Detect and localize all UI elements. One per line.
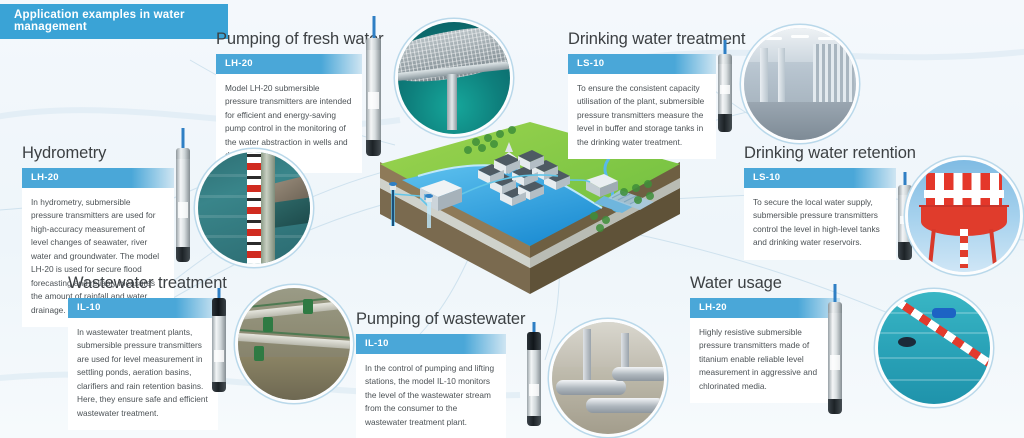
treatment-plant-interior-photo	[744, 28, 856, 140]
card-title: Drinking water treatment	[568, 30, 716, 49]
infographic-canvas: Application examples in water management	[0, 0, 1024, 438]
model-badge: LH-20	[690, 298, 840, 318]
card-body: In the control of pumping and lifting st…	[356, 354, 506, 438]
probe-ls-10-treatment	[718, 40, 732, 132]
model-badge: LH-20	[22, 168, 174, 188]
card-title: Pumping of wastewater	[356, 310, 506, 329]
card-pumping-wastewater: Pumping of wastewater IL-10 In the contr…	[356, 310, 506, 438]
card-drinking-water-retention: Drinking water retention LS-10 To secure…	[744, 144, 896, 260]
probe-lh-20-fresh-water	[366, 16, 381, 156]
card-wastewater-treatment: Wastewater treatment IL-10 In wastewater…	[68, 274, 218, 430]
page-title-banner: Application examples in water management	[0, 4, 228, 39]
card-title: Wastewater treatment	[68, 274, 218, 293]
card-title: Water usage	[690, 274, 840, 293]
card-title: Drinking water retention	[744, 144, 896, 163]
river-level-gauge-photo	[198, 152, 310, 264]
model-badge: IL-10	[356, 334, 506, 354]
model-badge: LS-10	[744, 168, 896, 188]
swimming-pool-photo	[878, 292, 990, 404]
card-water-usage: Water usage LH-20 Highly resistive subme…	[690, 274, 840, 403]
card-title: Hydrometry	[22, 144, 174, 163]
pumping-station-photo	[552, 322, 664, 434]
pump-impeller-photo	[398, 22, 510, 134]
model-badge: LS-10	[568, 54, 716, 74]
card-body: Highly resistive submersible pressure tr…	[690, 318, 840, 403]
card-title: Pumping of fresh water	[216, 30, 362, 49]
probe-il-10-pumping-wastewater	[527, 322, 541, 426]
aeration-basin-photo	[238, 288, 350, 400]
model-badge: IL-10	[68, 298, 218, 318]
probe-lh-20-water-usage	[828, 284, 842, 414]
probe-lh-20-hydrometry	[176, 128, 190, 262]
card-drinking-water-treatment: Drinking water treatment LS-10 To ensure…	[568, 30, 716, 159]
model-badge: LH-20	[216, 54, 362, 74]
probe-il-10-wastewater-treatment	[212, 288, 226, 392]
card-body: To secure the local water supply, submer…	[744, 188, 896, 260]
card-body: In wastewater treatment plants, submersi…	[68, 318, 218, 430]
water-tower-photo	[908, 160, 1020, 272]
card-body: To ensure the consistent capacity utilis…	[568, 74, 716, 159]
